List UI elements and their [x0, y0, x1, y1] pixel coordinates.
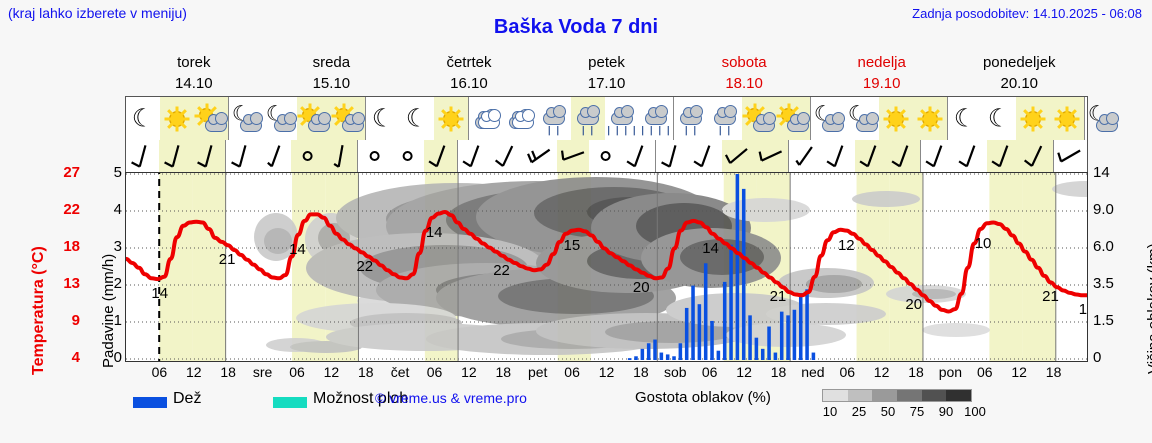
wind-barb-icon	[524, 140, 557, 172]
sun-icon	[924, 112, 937, 125]
x-tick-9: 12	[461, 364, 477, 380]
wind-barb-slot-18	[722, 140, 755, 172]
day-date: 20.10	[950, 73, 1088, 94]
wind-barb-slot-3	[225, 140, 259, 172]
cloud-density-tick-5: 100	[964, 404, 986, 419]
x-tick-2: 18	[220, 364, 236, 380]
cloud-height-tick-3: 3.5	[1093, 275, 1114, 292]
wind-barb-slot-13	[557, 140, 590, 172]
day-name: sobota	[675, 52, 813, 73]
cloud-icon	[753, 119, 775, 132]
cloud-rain-icon: ❘❘	[537, 104, 571, 134]
weather-icon-slot-9	[434, 97, 468, 140]
weather-icon-slot-7: ☾	[365, 97, 400, 140]
wind-barb-icon	[887, 140, 920, 172]
precipitation-tick-0: 5	[114, 164, 122, 181]
x-tick-21: 12	[874, 364, 890, 380]
precipitation-axis-title: Padavine (mm/h)	[80, 172, 108, 372]
wind-barb-slot-11	[491, 140, 524, 172]
wind-barb-slot-16	[655, 140, 689, 172]
cloud-icon	[512, 116, 534, 129]
weather-icon-slot-28: ☾	[1084, 97, 1119, 140]
weather-icon-slot-3: ☾	[228, 97, 263, 140]
weather-icon-slot-2	[194, 97, 228, 140]
day-date: 19.10	[813, 73, 951, 94]
cloud-icon	[822, 119, 844, 132]
copyright-link[interactable]: © vreme.us & vreme.pro	[375, 390, 527, 406]
rain-drops-icon: ❘❘❘❘	[639, 125, 673, 136]
rain-drops-icon: ❘❘	[716, 125, 733, 136]
x-tick-5: 12	[324, 364, 340, 380]
weather-icon-slot-19	[776, 97, 810, 140]
cloud-density-legend-title: Gostota oblakov (%)	[635, 389, 771, 406]
x-axis-ticks: 061218sre061218čet061218pet061218sob0612…	[125, 364, 1088, 384]
cloud-height-tick-2: 6.0	[1093, 238, 1114, 255]
day-date: 14.10	[125, 73, 263, 94]
x-tick-16: 06	[702, 364, 718, 380]
wind-barb-icon	[589, 140, 622, 172]
cloud-density-tick-4: 90	[939, 404, 953, 419]
sun-icon	[171, 112, 184, 125]
cloud-icon	[611, 112, 633, 125]
precipitation-tick-3: 2	[114, 275, 122, 292]
weather-icon-slot-22	[879, 97, 913, 140]
sun-cloud-icon	[331, 104, 365, 134]
sun-cloud-icon	[776, 104, 810, 134]
cloud-height-axis-title: Višina oblakov (km)	[1124, 168, 1152, 378]
precipitation-tick-1: 4	[114, 201, 122, 218]
moon-icon: ☾	[126, 104, 160, 134]
cloud-density-step-1	[848, 390, 873, 401]
moon-icon: ☾	[372, 106, 394, 131]
temperature-max-label-1: 21	[219, 251, 236, 268]
x-tick-22: 18	[908, 364, 924, 380]
sun-icon	[160, 104, 194, 134]
rain-drops-icon: ❘❘	[545, 125, 562, 136]
sun-cloud-icon	[194, 104, 228, 134]
moon-cloud-icon: ☾	[845, 104, 879, 134]
weather-icon-slot-12: ❘❘	[537, 97, 571, 140]
moon-icon: ☾	[988, 106, 1010, 131]
day-header-4: petek17.10	[538, 52, 676, 96]
x-tick-23: pon	[939, 364, 962, 380]
x-tick-26: 18	[1046, 364, 1062, 380]
cloud-density-tick-0: 10	[823, 404, 837, 419]
moon-icon: ☾	[982, 104, 1016, 134]
temperature-min-label-12: 10	[975, 235, 992, 252]
weather-icon-slot-11	[503, 97, 537, 140]
moon-icon: ☾	[400, 104, 434, 134]
wind-barb-icon	[458, 140, 491, 172]
temperature-max-label-9: 21	[770, 288, 787, 305]
meteogram-plot: 142114221422152014211220102112	[125, 172, 1088, 362]
moon-icon: ☾	[406, 106, 428, 131]
cloud-density-step-5	[946, 390, 971, 401]
temperature-min-label-0: 14	[151, 285, 168, 302]
cloud-icon	[645, 112, 667, 125]
moon-icon: ☾	[954, 106, 976, 131]
cloud-rain-icon: ❘❘	[571, 104, 605, 134]
moon-cloud-icon: ☾	[229, 104, 263, 134]
cloud-icon	[205, 119, 227, 132]
cloud-density-tick-2: 50	[881, 404, 895, 419]
sun-icon	[890, 112, 903, 125]
temperature-min-label-8: 14	[702, 240, 719, 257]
wind-barb-slot-2	[192, 140, 225, 172]
sun-icon	[1050, 104, 1084, 134]
x-tick-24: 06	[977, 364, 993, 380]
x-tick-3: sre	[253, 364, 272, 380]
wind-barb-band	[125, 140, 1088, 172]
weather-icon-slot-8: ☾	[400, 97, 434, 140]
temperature-axis-label: Temperatura (°C)	[30, 246, 48, 375]
precipitation-tick-5: 0	[114, 349, 122, 366]
cloud-rain-heavy-icon: ❘❘❘❘	[639, 104, 673, 134]
weather-icon-slot-21: ☾	[845, 97, 879, 140]
x-tick-25: 12	[1011, 364, 1027, 380]
moon-icon: ☾	[948, 104, 982, 134]
moon-cloud-icon: ☾	[1085, 104, 1119, 134]
cloud-height-tick-4: 1.5	[1093, 312, 1114, 329]
cloud-icon	[1096, 119, 1118, 132]
weather-icon-slot-20: ☾	[810, 97, 845, 140]
day-date: 17.10	[538, 73, 676, 94]
wind-barb-slot-12	[524, 140, 557, 172]
temperature-min-label-10: 12	[838, 237, 855, 254]
wind-barb-slot-14	[589, 140, 622, 172]
cloud-icon	[680, 112, 702, 125]
wind-barb-icon	[722, 140, 755, 172]
wind-barb-icon	[822, 140, 855, 172]
wind-barb-icon	[622, 140, 655, 172]
cloud-icon	[274, 119, 296, 132]
day-name: torek	[125, 52, 263, 73]
cloud-density-step-3	[897, 390, 922, 401]
day-name: nedelja	[813, 52, 951, 73]
weather-icon-slot-1	[160, 97, 194, 140]
weather-icon-slot-14: ❘❘❘❘	[605, 97, 639, 140]
weather-icon-slot-4: ☾	[263, 97, 297, 140]
weather-icon-slot-6	[331, 97, 365, 140]
wind-barb-icon	[159, 140, 192, 172]
day-header-3: četrtek16.10	[400, 52, 538, 96]
wind-barb-slot-19	[755, 140, 788, 172]
x-tick-7: čet	[391, 364, 410, 380]
x-tick-0: 06	[152, 364, 168, 380]
temperature-min-label-2: 14	[289, 241, 306, 258]
wind-barb-icon	[1054, 140, 1087, 172]
wind-barb-icon	[259, 140, 292, 172]
wind-barb-icon	[491, 140, 524, 172]
cloud-icon	[503, 104, 537, 134]
wind-barb-icon	[358, 140, 391, 172]
wind-barb-slot-0	[126, 140, 159, 172]
rain-drops-icon: ❘❘❘❘	[605, 125, 639, 136]
wind-barb-icon	[921, 140, 954, 172]
wind-barb-icon	[192, 140, 225, 172]
wind-barb-icon	[557, 140, 590, 172]
cloud-icon	[787, 119, 809, 132]
cloud-density-step-4	[922, 390, 947, 401]
wind-barb-slot-21	[822, 140, 855, 172]
temperature-max-label-11: 20	[905, 296, 922, 313]
x-tick-19: ned	[801, 364, 824, 380]
wind-barb-slot-23	[887, 140, 920, 172]
day-header-row: torek14.10sreda15.10četrtek16.10petek17.…	[125, 52, 1088, 96]
cloud-icon	[577, 112, 599, 125]
x-tick-4: 06	[289, 364, 305, 380]
cloud-icon	[714, 112, 736, 125]
temperature-tick-3: 13	[63, 275, 80, 292]
weather-icon-band: ☾☾☾☾☾❘❘❘❘❘❘❘❘❘❘❘❘❘❘❘❘☾☾☾☾☾	[125, 96, 1088, 140]
x-tick-8: 06	[427, 364, 443, 380]
sun-icon	[913, 104, 947, 134]
weather-icon-slot-26	[1016, 97, 1050, 140]
temperature-tick-5: 4	[72, 349, 80, 366]
temperature-tick-4: 9	[72, 312, 80, 329]
last-updated: Zadnja posodobitev: 14.10.2025 - 06:08	[912, 6, 1142, 21]
cloud-icon	[543, 112, 565, 125]
sun-icon	[1016, 104, 1050, 134]
moon-cloud-icon: ☾	[811, 104, 845, 134]
wind-barb-slot-20	[788, 140, 822, 172]
wind-barb-icon	[226, 140, 259, 172]
day-date: 15.10	[263, 73, 401, 94]
sun-cloud-icon	[297, 104, 331, 134]
temperature-min-label-14: 12	[1079, 301, 1088, 318]
weather-icon-slot-23	[913, 97, 947, 140]
day-header-2: sreda15.10	[263, 52, 401, 96]
wind-barb-slot-9	[424, 140, 457, 172]
wind-barb-icon	[855, 140, 888, 172]
wind-barb-slot-28	[1053, 140, 1087, 172]
temperature-axis-title: Temperatura (°C)	[8, 170, 36, 380]
cloud-density-tick-1: 25	[852, 404, 866, 419]
day-date: 18.10	[675, 73, 813, 94]
cloud-rain-icon: ❘❘	[674, 104, 708, 134]
x-tick-14: 18	[633, 364, 649, 380]
moon-cloud-icon: ☾	[263, 104, 297, 134]
moon-icon: ☾	[132, 106, 154, 131]
weather-icon-slot-25: ☾	[982, 97, 1016, 140]
cloud-density-step-0	[823, 390, 848, 401]
cloud-density-legend-ticks: 1025507590100	[812, 404, 987, 422]
wind-barb-slot-7	[357, 140, 391, 172]
weather-icon-slot-18	[742, 97, 776, 140]
cloud-rain-icon: ❘❘	[708, 104, 742, 134]
wind-barb-icon	[1020, 140, 1053, 172]
wind-barb-icon	[126, 140, 159, 172]
sun-icon	[1027, 112, 1040, 125]
wind-barb-icon	[324, 140, 357, 172]
rain-legend-swatch	[133, 397, 167, 408]
temperature-tick-1: 22	[63, 201, 80, 218]
cloud-height-tick-1: 9.0	[1093, 201, 1114, 218]
wind-barb-slot-15	[622, 140, 655, 172]
sun-icon	[1061, 112, 1074, 125]
temperature-max-label-3: 22	[356, 258, 373, 275]
wind-barb-slot-22	[855, 140, 888, 172]
x-tick-15: sob	[664, 364, 687, 380]
wind-barb-icon	[291, 140, 324, 172]
x-tick-18: 18	[771, 364, 787, 380]
weather-icon-slot-24: ☾	[947, 97, 982, 140]
wind-barb-slot-27	[1020, 140, 1053, 172]
weather-icon-slot-16: ❘❘	[673, 97, 708, 140]
cloud-height-axis-label: Višina oblakov (km)	[1145, 243, 1152, 374]
sun-cloud-icon	[742, 104, 776, 134]
temperature-max-label-7: 20	[633, 279, 650, 296]
weather-icon-slot-27	[1050, 97, 1084, 140]
day-date: 16.10	[400, 73, 538, 94]
weather-icon-slot-10	[468, 97, 503, 140]
day-header-6: nedelja19.10	[813, 52, 951, 96]
x-tick-1: 12	[186, 364, 202, 380]
cloud-rain-heavy-icon: ❘❘❘❘	[605, 104, 639, 134]
cloud-density-tick-3: 75	[910, 404, 924, 419]
day-name: četrtek	[400, 52, 538, 73]
cloud-icon	[240, 119, 262, 132]
weather-icon-slot-0: ☾	[126, 97, 160, 140]
rain-legend-label: Dež	[173, 390, 201, 408]
x-tick-11: pet	[528, 364, 547, 380]
wind-barb-icon	[755, 140, 788, 172]
weather-icon-slot-5	[297, 97, 331, 140]
day-header-7: ponedeljek20.10	[950, 52, 1088, 96]
wind-barb-slot-8	[391, 140, 424, 172]
wind-barb-slot-25	[954, 140, 987, 172]
wind-barb-slot-4	[259, 140, 292, 172]
cloud-icon	[856, 119, 878, 132]
day-name: petek	[538, 52, 676, 73]
wind-barb-icon	[954, 140, 987, 172]
cloud-icon	[342, 119, 364, 132]
day-name: sreda	[263, 52, 401, 73]
x-tick-17: 12	[736, 364, 752, 380]
wind-barb-icon	[689, 140, 722, 172]
rain-drops-icon: ❘❘	[579, 125, 596, 136]
temperature-min-label-6: 15	[564, 237, 581, 254]
day-name: ponedeljek	[950, 52, 1088, 73]
wind-barb-icon	[656, 140, 689, 172]
weather-icon-slot-13: ❘❘	[571, 97, 605, 140]
showers-legend-swatch	[273, 397, 307, 408]
x-tick-6: 18	[358, 364, 374, 380]
wind-barb-slot-17	[689, 140, 722, 172]
wind-barb-slot-10	[457, 140, 491, 172]
weather-icon-slot-17: ❘❘	[708, 97, 742, 140]
moon-icon: ☾	[366, 104, 400, 134]
x-tick-10: 18	[496, 364, 512, 380]
temperature-min-label-4: 14	[426, 224, 443, 241]
sun-icon	[879, 104, 913, 134]
cloud-height-tick-0: 14	[1093, 164, 1110, 181]
wind-barb-slot-26	[987, 140, 1020, 172]
cloud-icon	[308, 119, 330, 132]
cloud-icon	[478, 116, 500, 129]
wind-barb-slot-1	[159, 140, 192, 172]
x-tick-12: 06	[564, 364, 580, 380]
weather-icon-slot-15: ❘❘❘❘	[639, 97, 673, 140]
temperature-max-label-13: 21	[1042, 288, 1059, 305]
cloud-icon	[469, 104, 503, 134]
precipitation-tick-4: 1	[114, 312, 122, 329]
wind-barb-slot-5	[291, 140, 324, 172]
temperature-tick-2: 18	[63, 238, 80, 255]
wind-barb-icon	[987, 140, 1020, 172]
cloud-density-step-2	[872, 390, 897, 401]
wind-barb-slot-6	[324, 140, 357, 172]
sun-icon	[445, 112, 458, 125]
rain-drops-icon: ❘❘	[682, 125, 699, 136]
cloud-density-gradient-bar	[822, 389, 972, 402]
wind-barb-icon	[424, 140, 457, 172]
x-tick-13: 12	[599, 364, 615, 380]
precipitation-tick-2: 3	[114, 238, 122, 255]
temperature-tick-0: 27	[63, 164, 80, 181]
cloud-height-tick-5: 0	[1093, 349, 1101, 366]
day-header-1: torek14.10	[125, 52, 263, 96]
sun-icon	[434, 104, 468, 134]
wind-barb-icon	[391, 140, 424, 172]
temperature-max-label-5: 22	[493, 262, 510, 279]
day-header-5: sobota18.10	[675, 52, 813, 96]
wind-barb-slot-24	[920, 140, 954, 172]
wind-barb-icon	[789, 140, 822, 172]
x-tick-20: 06	[840, 364, 856, 380]
